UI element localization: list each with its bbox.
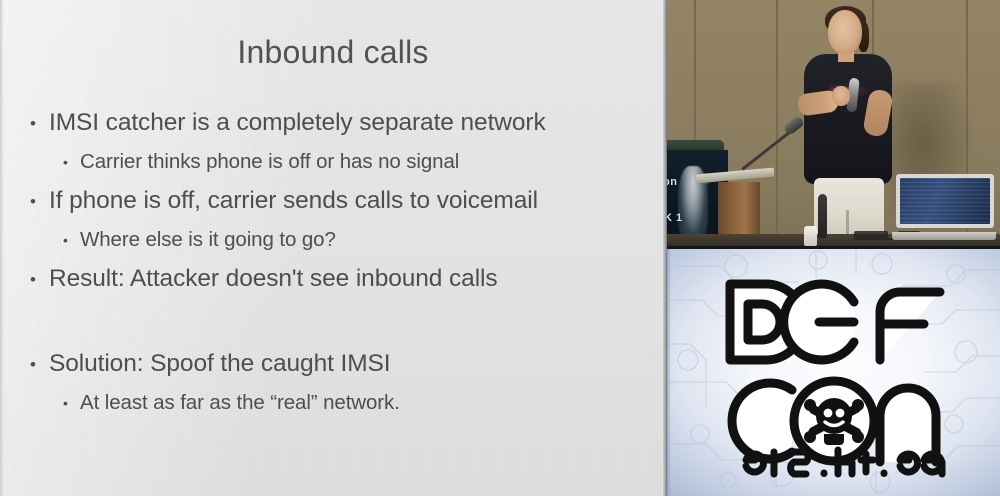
slide-left-edge	[0, 0, 4, 496]
bullet-text: At least as far as the “real” network.	[80, 388, 400, 418]
speaker-video-panel: on K 1	[666, 0, 1000, 248]
laptop	[892, 174, 996, 240]
laptop-screen	[900, 178, 990, 224]
bullet-marker-icon: •	[30, 106, 49, 132]
bullet-item: • Solution: Spoof the caught IMSI	[30, 347, 650, 388]
bullet-text: Result: Attacker doesn't see inbound cal…	[49, 262, 498, 296]
bullet-marker-icon: •	[63, 388, 80, 410]
bullet-item: • Result: Attacker doesn't see inbound c…	[30, 262, 650, 303]
microphone-arm	[741, 131, 790, 170]
bullet-text: Where else is it going to go?	[80, 225, 336, 255]
defcon-logo	[718, 266, 950, 478]
bullet-spacer	[30, 303, 650, 347]
video-frame: Inbound calls • IMSI catcher is a comple…	[0, 0, 1000, 496]
bullet-item: • Carrier thinks phone is off or has no …	[63, 147, 650, 184]
bullet-text: Carrier thinks phone is off or has no si…	[80, 147, 459, 177]
banner-text-line-2: K 1	[666, 212, 683, 224]
presentation-slide: Inbound calls • IMSI catcher is a comple…	[0, 0, 666, 496]
slide-title: Inbound calls	[0, 34, 666, 71]
table-microphone	[818, 194, 827, 238]
defcon-logo-graphic	[718, 266, 950, 478]
speaker-left-hand	[832, 86, 850, 106]
bullet-item: • IMSI catcher is a completely separate …	[30, 106, 650, 147]
laptop-base	[892, 232, 996, 240]
bullet-marker-icon: •	[30, 184, 49, 210]
bullet-item: • Where else is it going to go?	[63, 225, 650, 262]
bullet-text: IMSI catcher is a completely separate ne…	[49, 106, 546, 140]
defcon-logo-panel	[666, 248, 1000, 496]
panel-divider	[666, 246, 1000, 249]
speaker-head	[828, 10, 862, 54]
podium-microphone	[742, 112, 804, 174]
laptop-lid	[896, 174, 994, 228]
water-bottle	[804, 226, 817, 246]
bullet-marker-icon: •	[63, 225, 80, 247]
bullet-item: • If phone is off, carrier sends calls t…	[30, 184, 650, 225]
bullet-marker-icon: •	[30, 347, 49, 373]
bullet-marker-icon: •	[63, 147, 80, 169]
bullet-item: • At least as far as the “real” network.	[63, 388, 650, 425]
bullet-text: If phone is off, carrier sends calls to …	[49, 184, 538, 218]
slide-bullet-list: • IMSI catcher is a completely separate …	[30, 106, 650, 425]
column-divider	[663, 0, 667, 496]
bullet-text: Solution: Spoof the caught IMSI	[49, 347, 390, 381]
banner-text-line-1: on	[666, 176, 677, 188]
bullet-marker-icon: •	[30, 262, 49, 288]
